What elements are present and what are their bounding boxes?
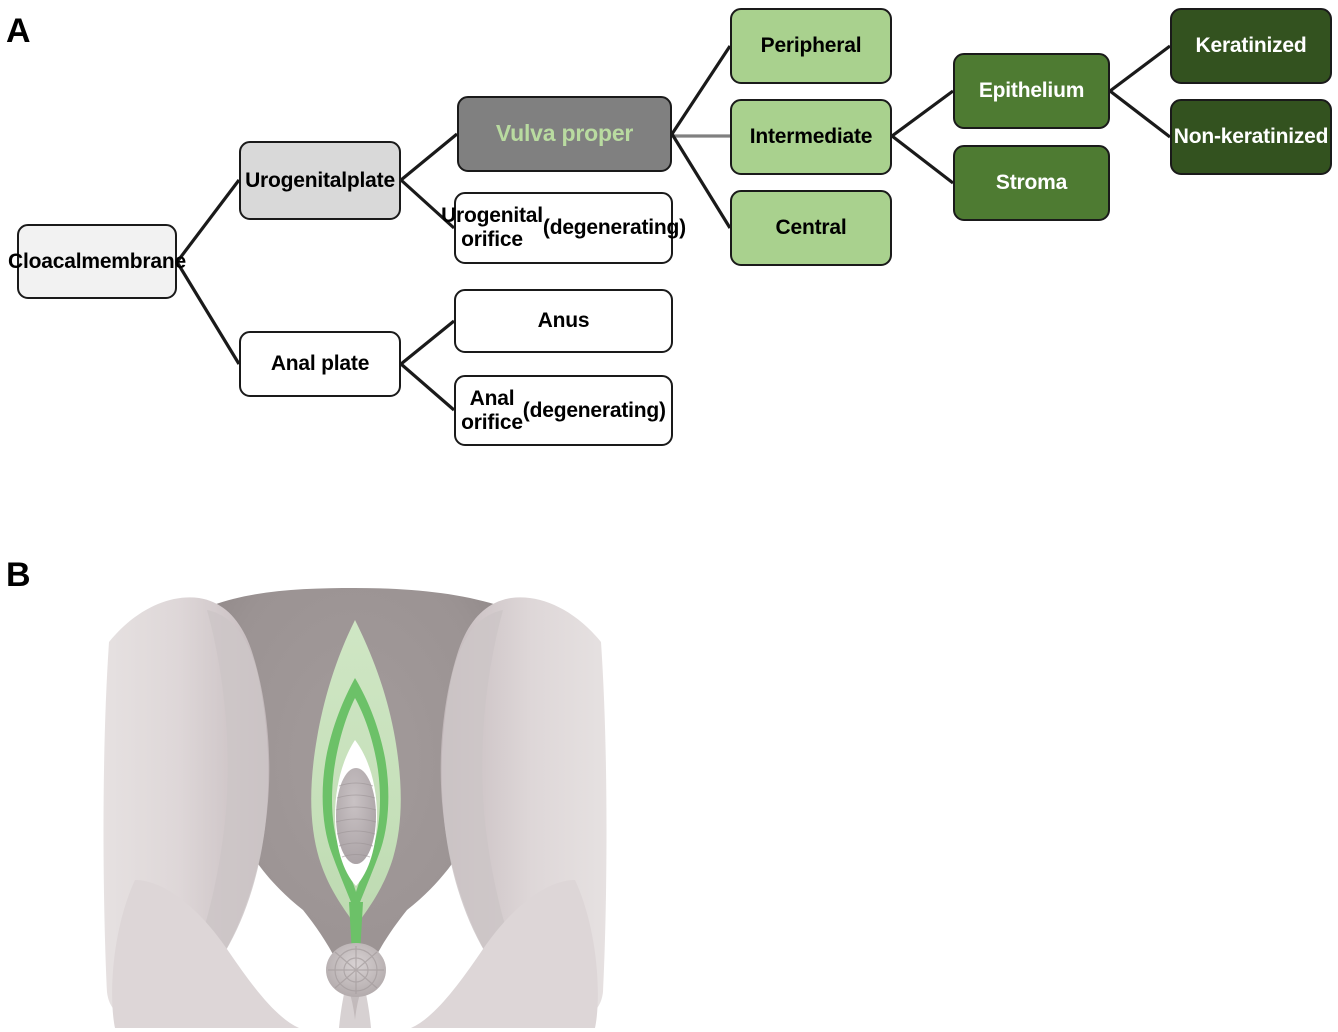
panel-label-b: B (6, 558, 31, 592)
edge-epithelium-to-non-keratinized (1110, 91, 1170, 137)
node-urogenital-orifice[interactable]: Urogenital orifice(degenerating) (454, 192, 673, 264)
anatomical-illustration-panel-b (95, 580, 615, 1030)
edge-intermediate-to-stroma (892, 136, 953, 183)
anus-radial-folds (328, 946, 384, 994)
edge-vulva-proper-to-peripheral (672, 46, 730, 134)
edge-cloacal-to-anal-plate (177, 262, 239, 364)
flowchart-panel-a: Cloacalmembrane Urogenitalplate Anal pla… (0, 0, 1338, 540)
node-intermediate[interactable]: Intermediate (730, 99, 892, 175)
edge-anal-plate-to-anal-orifice (401, 364, 454, 410)
node-anus[interactable]: Anus (454, 289, 673, 353)
node-keratinized[interactable]: Keratinized (1170, 8, 1332, 84)
central-structure (336, 768, 376, 864)
node-central[interactable]: Central (730, 190, 892, 266)
edge-urogenital-plate-to-vulva-proper (401, 134, 457, 180)
node-epithelium[interactable]: Epithelium (953, 53, 1110, 129)
edge-epithelium-to-keratinized (1110, 46, 1170, 91)
node-stroma[interactable]: Stroma (953, 145, 1110, 221)
edge-anal-plate-to-anus (401, 321, 454, 364)
node-peripheral[interactable]: Peripheral (730, 8, 892, 84)
edge-intermediate-to-epithelium (892, 91, 953, 136)
perineum-diagram (95, 580, 615, 1030)
node-anal-orifice[interactable]: Anal orifice(degenerating) (454, 375, 673, 446)
flowchart-connector-layer (0, 0, 1338, 540)
node-vulva-proper[interactable]: Vulva proper (457, 96, 672, 172)
edge-cloacal-to-urogenital-plate (177, 180, 239, 262)
node-urogenital-plate[interactable]: Urogenitalplate (239, 141, 401, 220)
node-anal-plate[interactable]: Anal plate (239, 331, 401, 397)
node-cloacal-membrane[interactable]: Cloacalmembrane (17, 224, 177, 299)
node-non-keratinized[interactable]: Non-keratinized (1170, 99, 1332, 175)
edge-vulva-proper-to-central (672, 134, 730, 228)
